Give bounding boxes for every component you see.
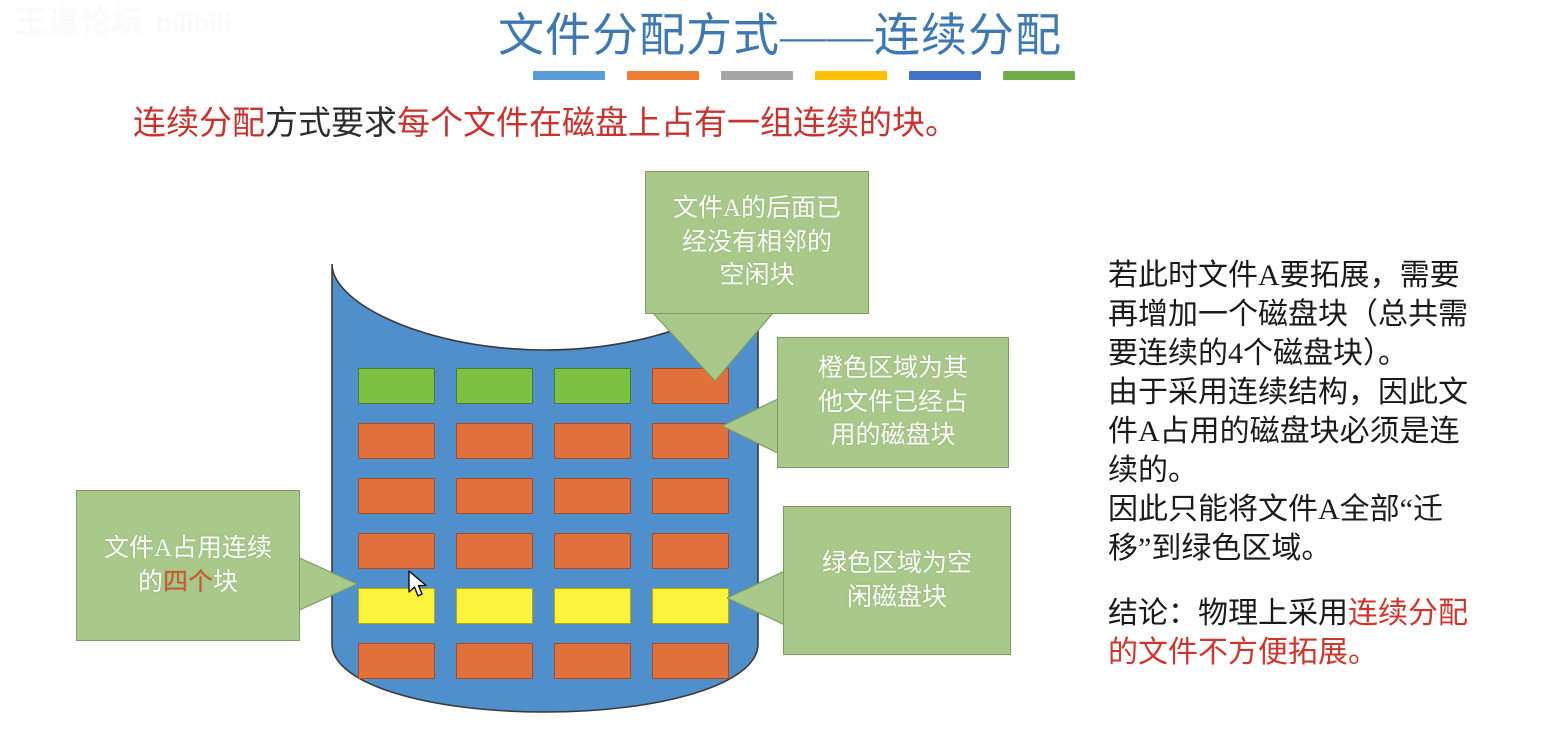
callout-tail-no-free xyxy=(653,313,773,381)
disk-block-r3-c4-orange xyxy=(652,478,729,514)
disk-block-r6-c3-orange xyxy=(554,643,631,679)
title-underline-bars xyxy=(533,71,1075,80)
callout-file-a-line-2-pre: 的 xyxy=(138,569,163,596)
bar-orange xyxy=(627,71,699,80)
disk-block-r6-c2-orange xyxy=(456,643,533,679)
subtitle-part-3: 每个文件在磁盘上占有一组连续的块。 xyxy=(397,106,958,142)
callout-no-free-line-1: 文件A的后面已 xyxy=(673,192,841,226)
callout-orange-line-2: 他文件已经占 xyxy=(818,386,968,420)
disk-block-r4-c3-orange xyxy=(554,533,631,569)
explanation-text: 若此时文件A要拓展，需要再增加一个磁盘块（总共需要连续的4个磁盘块）。 由于采用… xyxy=(1108,256,1468,672)
subtitle-part-2: 方式要求 xyxy=(265,106,397,142)
disk-block-r3-c1-orange xyxy=(358,478,435,514)
callout-file-a-blocks: 文件A占用连续 的四个块 xyxy=(76,490,300,641)
callout-green-line-2: 闲磁盘块 xyxy=(822,581,972,615)
disk-block-r1-c2-green xyxy=(456,368,533,404)
disk-block-r5-c1-yellow xyxy=(358,588,435,624)
disk-block-r1-c1-green xyxy=(358,368,435,404)
disk-block-grid xyxy=(358,368,728,680)
bar-green xyxy=(1003,71,1075,80)
bar-navy xyxy=(909,71,981,80)
callout-tail-file-a xyxy=(295,556,357,612)
callout-green-line-1: 绿色区域为空 xyxy=(822,547,972,581)
disk-block-r5-c4-yellow xyxy=(652,588,729,624)
page-title: 文件分配方式——连续分配 xyxy=(0,8,1560,63)
disk-block-r4-c4-orange xyxy=(652,533,729,569)
explanation-para-2: 由于采用连续结构，因此文件A占用的磁盘块必须是连续的。 xyxy=(1108,373,1468,490)
disk-block-r5-c3-yellow xyxy=(554,588,631,624)
bar-blue xyxy=(533,71,605,80)
callout-file-a-line-1: 文件A占用连续 xyxy=(104,532,272,566)
callout-no-adjacent-free-block: 文件A的后面已 经没有相邻的 空闲块 xyxy=(645,171,869,314)
callout-orange-line-3: 用的磁盘块 xyxy=(818,419,968,453)
disk-block-r6-c4-orange xyxy=(652,643,729,679)
callout-orange-line-1: 橙色区域为其 xyxy=(818,352,968,386)
conclusion-label: 结论：物理上采用 xyxy=(1108,597,1348,630)
bar-yellow xyxy=(815,71,887,80)
disk-block-r5-c2-yellow xyxy=(456,588,533,624)
bar-gray xyxy=(721,71,793,80)
paragraph-spacer xyxy=(1108,568,1468,594)
disk-block-r3-c2-orange xyxy=(456,478,533,514)
callout-orange-area: 橙色区域为其 他文件已经占 用的磁盘块 xyxy=(777,337,1009,468)
callout-file-a-line-2-post: 块 xyxy=(213,569,238,596)
title-block: 文件分配方式——连续分配 xyxy=(0,8,1560,63)
disk-block-r2-c3-orange xyxy=(554,423,631,459)
callout-file-a-line-2: 的四个块 xyxy=(104,566,272,600)
explanation-para-1: 若此时文件A要拓展，需要再增加一个磁盘块（总共需要连续的4个磁盘块）。 xyxy=(1108,256,1468,373)
callout-tail-green-area xyxy=(727,570,787,626)
disk-block-r4-c1-orange xyxy=(358,533,435,569)
explanation-conclusion: 结论：物理上采用连续分配的文件不方便拓展。 xyxy=(1108,594,1468,672)
explanation-para-3: 因此只能将文件A全部“迁移”到绿色区域。 xyxy=(1108,490,1468,568)
disk-block-r4-c2-orange xyxy=(456,533,533,569)
disk-block-r3-c3-orange xyxy=(554,478,631,514)
callout-no-free-line-3: 空闲块 xyxy=(673,259,841,293)
callout-tail-orange-area xyxy=(722,398,780,454)
callout-no-free-line-2: 经没有相邻的 xyxy=(673,226,841,260)
disk-block-r2-c4-orange xyxy=(652,423,729,459)
callout-green-area: 绿色区域为空 闲磁盘块 xyxy=(783,506,1011,655)
callout-file-a-highlight: 四个 xyxy=(163,569,213,596)
disk-block-r6-c1-orange xyxy=(358,643,435,679)
slide-canvas: 王道论坛 bilibili 文件分配方式——连续分配 连续分配方式要求每个文件在… xyxy=(0,0,1560,755)
disk-block-r2-c1-orange xyxy=(358,423,435,459)
subtitle-part-1: 连续分配 xyxy=(133,106,265,142)
disk-block-r1-c3-green xyxy=(554,368,631,404)
disk-block-r2-c2-orange xyxy=(456,423,533,459)
subtitle-line: 连续分配方式要求每个文件在磁盘上占有一组连续的块。 xyxy=(133,104,958,145)
